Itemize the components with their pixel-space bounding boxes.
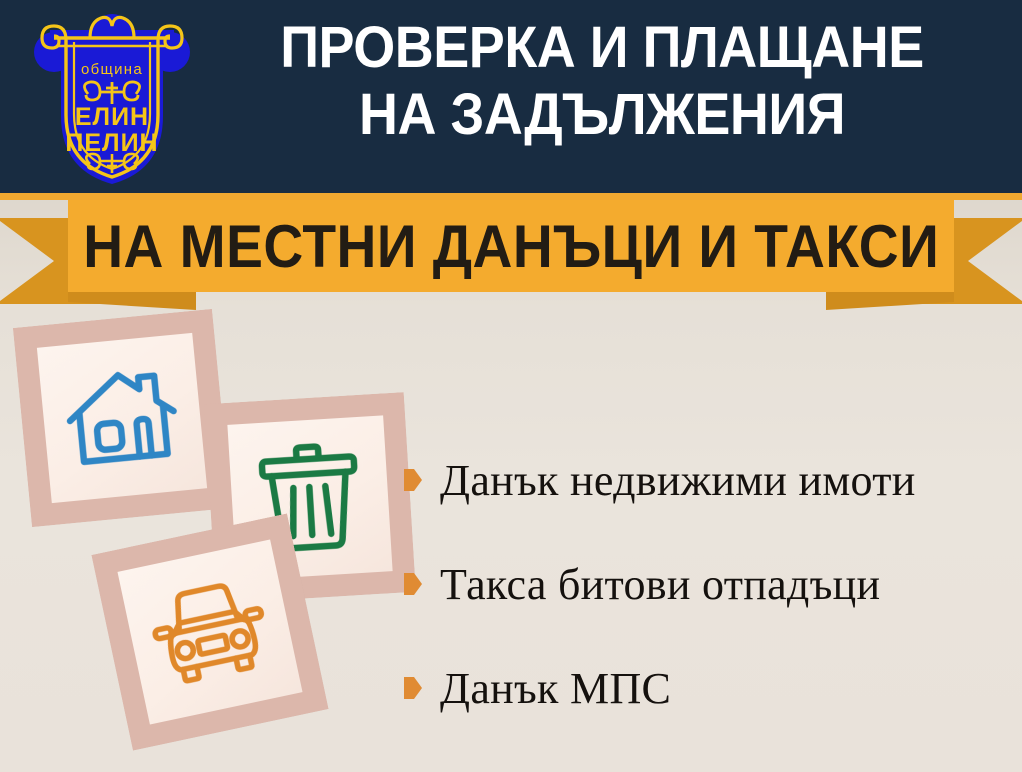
stamp-card-car [91, 513, 328, 750]
stamp-card-house [13, 309, 231, 527]
page-title: ПРОВЕРКА И ПЛАЩАНЕ НА ЗАДЪЛЖЕНИЯ [224, 14, 979, 149]
list-item-label: Данък МПС [440, 663, 671, 714]
arrow-bullet-icon [404, 573, 422, 595]
svg-text:ПЕЛИН: ПЕЛИН [65, 129, 158, 157]
arrow-bullet-icon [404, 469, 422, 491]
header-accent-rule [0, 193, 1022, 200]
car-front-icon [143, 572, 277, 692]
svg-text:ЕЛИН: ЕЛИН [75, 103, 149, 131]
list-item[interactable]: Данък недвижими имоти [404, 428, 1016, 532]
ribbon-subtitle: НА МЕСТНИ ДАНЪЦИ И ТАКСИ [83, 212, 939, 281]
list-item[interactable]: Такса битови отпадъци [404, 532, 1016, 636]
list-item-label: Данък недвижими имоти [440, 455, 916, 506]
ribbon-banner: НА МЕСТНИ ДАНЪЦИ И ТАКСИ [68, 200, 954, 292]
svg-text:община: община [81, 61, 143, 78]
arrow-bullet-icon [404, 677, 422, 699]
poster-canvas: община ЕЛИН ПЕЛИН [0, 0, 1022, 772]
poster-header: община ЕЛИН ПЕЛИН [0, 0, 1022, 193]
list-item[interactable]: Данък МПС [404, 636, 1016, 740]
tax-type-list: Данък недвижими имоти Такса битови отпад… [404, 428, 1016, 740]
stamp-card-face [37, 333, 207, 503]
stamp-card-face [117, 539, 302, 724]
house-icon [61, 361, 182, 475]
subtitle-ribbon: НА МЕСТНИ ДАНЪЦИ И ТАКСИ [0, 200, 1022, 310]
list-item-label: Такса битови отпадъци [440, 559, 880, 610]
coat-of-arms-icon: община ЕЛИН ПЕЛИН [28, 8, 196, 188]
